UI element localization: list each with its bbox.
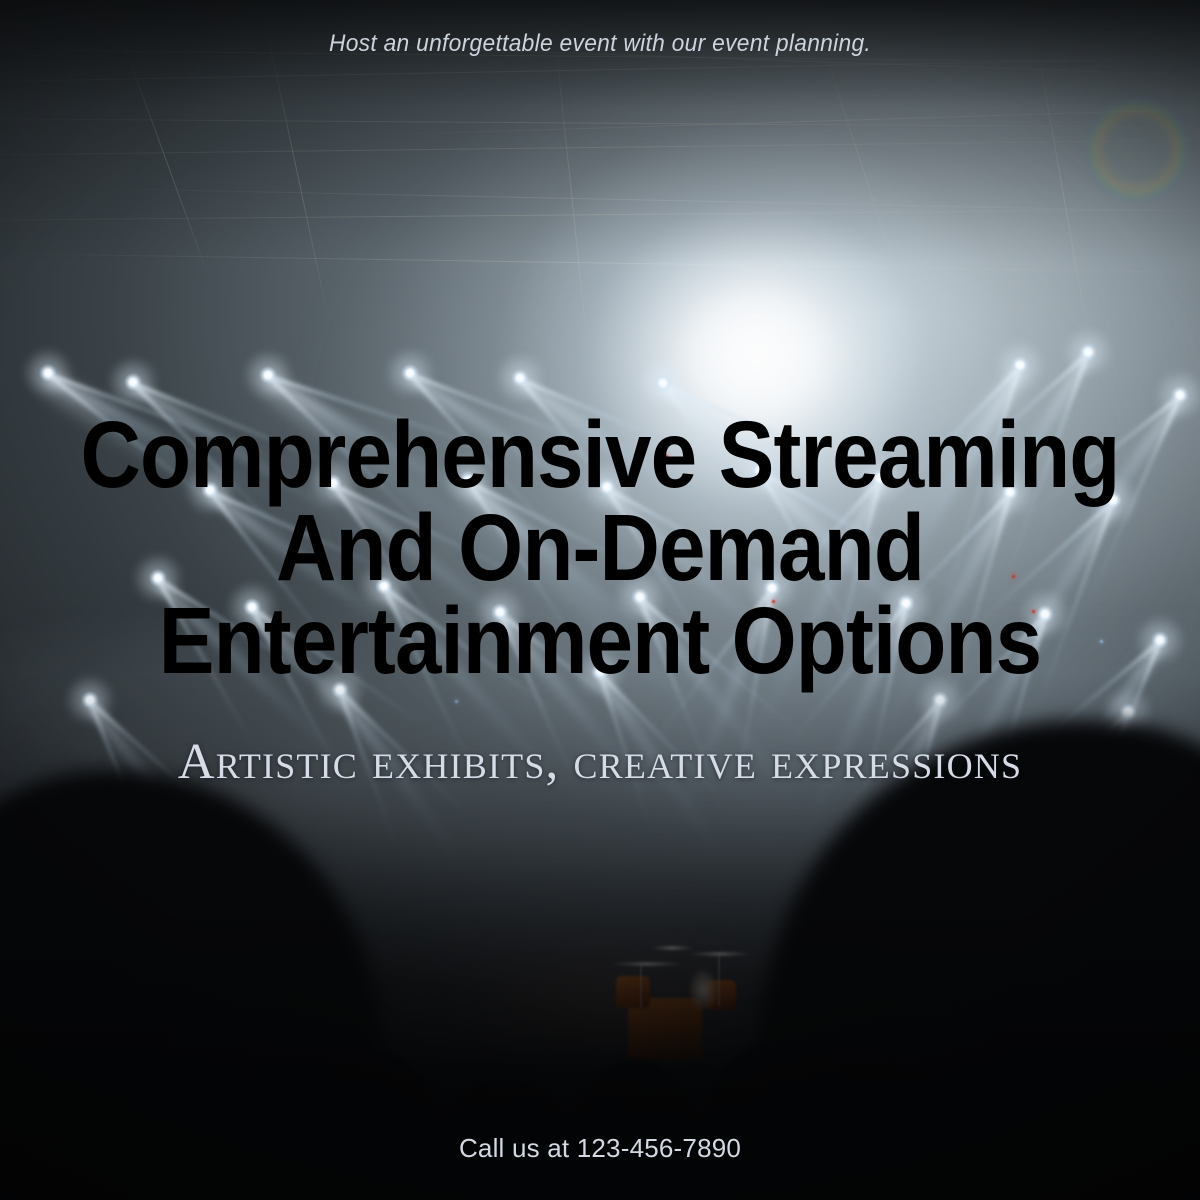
subtitle-text: Artistic exhibits, creative expressions [0, 733, 1200, 791]
call-to-action-phone[interactable]: Call us at 123-456-7890 [0, 1133, 1200, 1164]
poster-text-content: Host an unforgettable event with our eve… [0, 0, 1200, 1200]
page-title: Comprehensive Streaming And On-Demand En… [72, 409, 1128, 688]
headline-line-1: Comprehensive Streaming [72, 409, 1128, 502]
event-promo-poster: Host an unforgettable event with our eve… [0, 0, 1200, 1200]
headline-line-3: Entertainment Options [72, 595, 1128, 688]
headline-line-2: And On-Demand [72, 502, 1128, 595]
tagline-text: Host an unforgettable event with our eve… [30, 30, 1170, 58]
